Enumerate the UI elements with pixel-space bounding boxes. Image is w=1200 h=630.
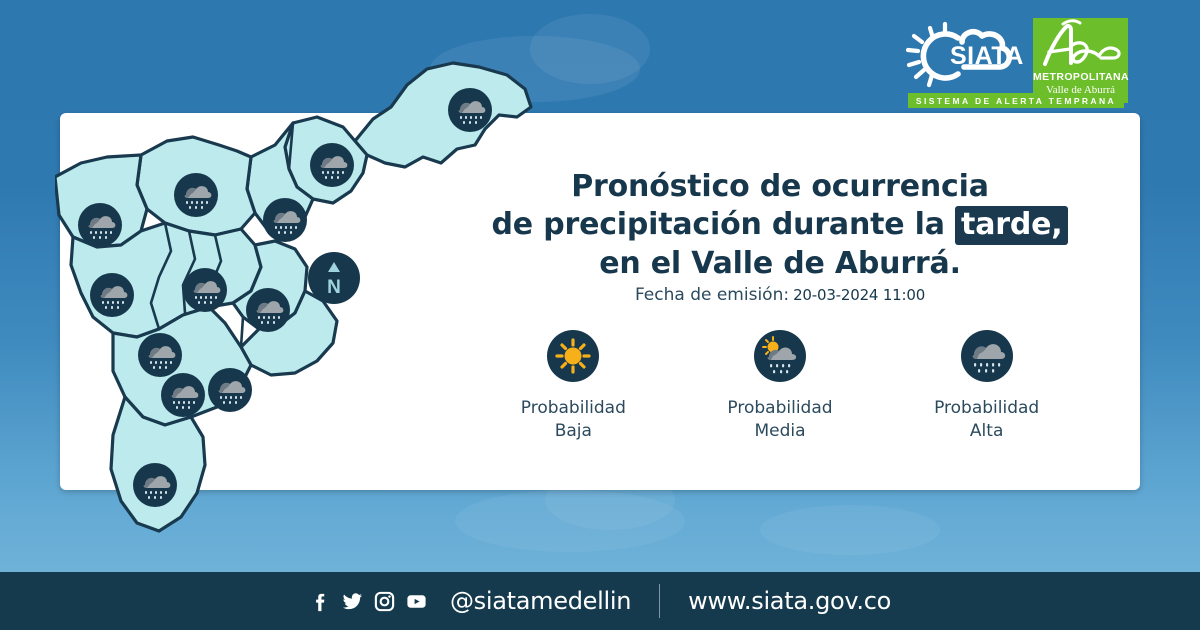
title-highlight-tarde: tarde, <box>955 206 1068 245</box>
title-line-3: en el Valle de Aburrá. <box>470 245 1090 283</box>
map-marker-cloud-rain-icon[interactable] <box>448 88 492 132</box>
legend-alta-line1: Probabilidad <box>899 397 1074 420</box>
svg-text:SIATA: SIATA <box>950 42 1024 70</box>
legend-label-baja: Probabilidad Baja <box>486 397 661 443</box>
legend-item-media[interactable]: Probabilidad Media <box>692 330 867 443</box>
legend-label-media: Probabilidad Media <box>692 397 867 443</box>
facebook-icon[interactable] <box>309 590 332 613</box>
legend-item-baja[interactable]: Probabilidad Baja <box>486 330 661 443</box>
twitter-icon[interactable] <box>341 590 364 613</box>
footer-bar: @siatamedellin www.siata.gov.co <box>0 572 1200 630</box>
map-marker-cloud-rain-icon[interactable] <box>78 203 122 247</box>
map-marker-cloud-rain-icon[interactable] <box>263 198 307 242</box>
map-marker-cloud-rain-icon[interactable] <box>138 333 182 377</box>
area-line-metropolitana: METROPOLITANA <box>1033 71 1128 83</box>
cloud-rain-icon <box>961 330 1013 382</box>
tagline-bar: SISTEMA DE ALERTA TEMPRANA <box>908 93 1124 108</box>
map-marker-cloud-rain-icon[interactable] <box>183 268 227 312</box>
issue-date-row: Fecha de emisión:20-03-2024 11:00 <box>470 285 1090 305</box>
svg-text:N: N <box>327 277 341 298</box>
legend-baja-line1: Probabilidad <box>486 397 661 420</box>
map-marker-cloud-rain-icon[interactable] <box>174 173 218 217</box>
page-title: Pronóstico de ocurrencia de precipitació… <box>470 168 1090 283</box>
map-marker-cloud-rain-icon[interactable] <box>90 273 134 317</box>
issue-date-value: 20-03-2024 11:00 <box>793 286 925 304</box>
legend-alta-line2: Alta <box>899 420 1074 443</box>
legend-item-alta[interactable]: Probabilidad Alta <box>899 330 1074 443</box>
map-marker-cloud-rain-icon[interactable] <box>133 463 177 507</box>
legend-baja-line2: Baja <box>486 420 661 443</box>
area-script-logo <box>1033 18 1128 76</box>
sun-icon <box>547 330 599 382</box>
issue-date-label: Fecha de emisión: <box>635 285 789 305</box>
sun-cloud-rain-icon <box>754 330 806 382</box>
compass-north-icon: N <box>308 252 360 304</box>
area-metropolitana-badge: METROPOLITANA Valle de Aburrá <box>1033 18 1128 103</box>
legend-media-line2: Media <box>692 420 867 443</box>
legend-media-line1: Probabilidad <box>692 397 867 420</box>
map-marker-cloud-rain-icon[interactable] <box>208 368 252 412</box>
siata-logo: SIATA <box>900 20 1028 92</box>
title-line-2-text: de precipitación durante la <box>492 207 956 242</box>
legend-label-alta: Probabilidad Alta <box>899 397 1074 443</box>
footer-divider <box>659 584 660 618</box>
map-marker-cloud-rain-icon[interactable] <box>246 288 290 332</box>
map-marker-cloud-rain-icon[interactable] <box>310 143 354 187</box>
instagram-icon[interactable] <box>373 590 396 613</box>
legend: Probabilidad Baja <box>470 330 1090 445</box>
background-cloud-5 <box>760 505 940 555</box>
social-handle[interactable]: @siatamedellin <box>450 587 631 615</box>
infographic-root: SIATA METROPOLITANA Valle de Aburrá SIST… <box>0 0 1200 630</box>
social-icons <box>309 590 428 613</box>
map-marker-cloud-rain-icon[interactable] <box>161 373 205 417</box>
website-url[interactable]: www.siata.gov.co <box>688 587 891 615</box>
title-line-1: Pronóstico de ocurrencia <box>470 168 1090 206</box>
title-line-2: de precipitación durante la tarde, <box>470 206 1090 244</box>
youtube-icon[interactable] <box>405 590 428 613</box>
